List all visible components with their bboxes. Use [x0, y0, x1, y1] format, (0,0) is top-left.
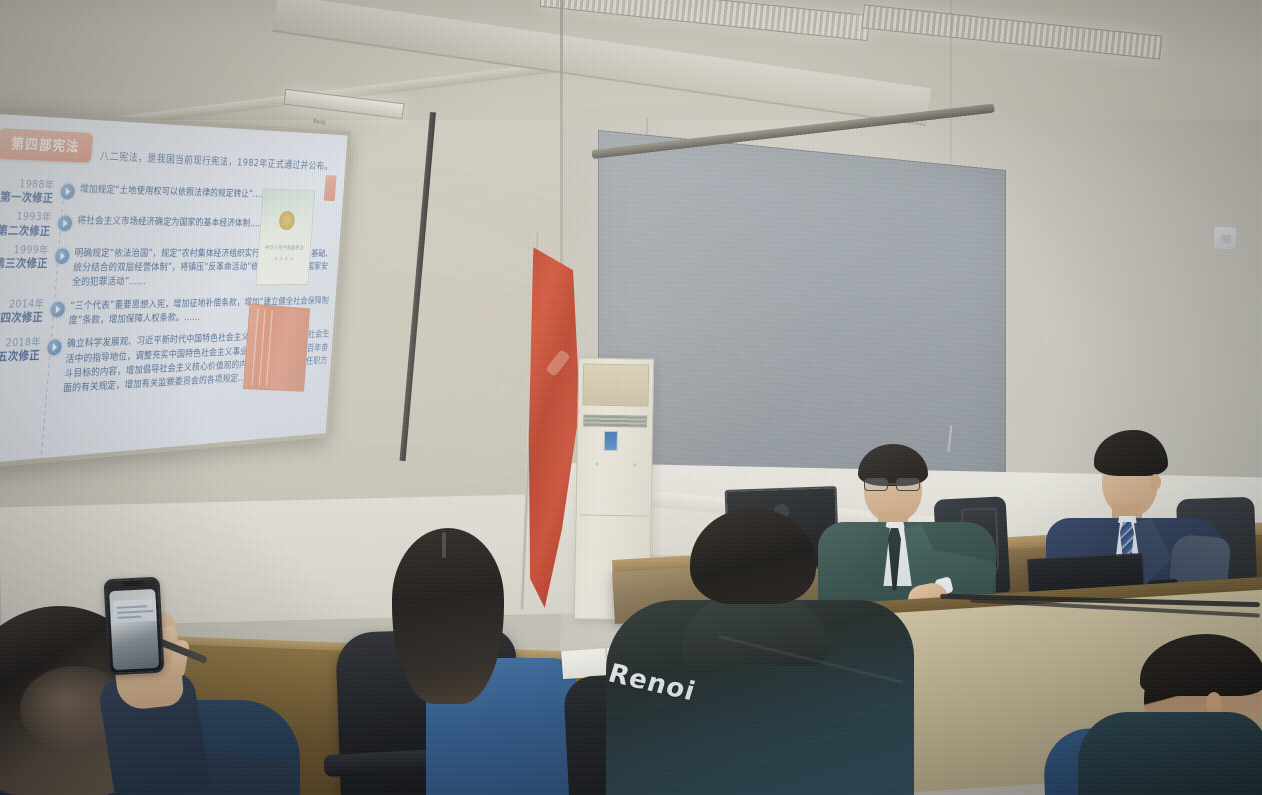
ac-vent: [583, 414, 647, 427]
ac-top-panel: [582, 363, 649, 406]
attendee-long-hair: [336, 528, 576, 795]
phone-screen[interactable]: [109, 589, 159, 670]
projection-screen[interactable]: 第四部宪法 八二宪法，是我国当前现行宪法，1982年正式通过并公布。 1988年…: [0, 108, 351, 471]
constitution-book-image: 中华人民共和国宪法 宪 法 读 本: [255, 188, 315, 285]
hair: [1140, 634, 1262, 696]
play-bullet-icon: [57, 216, 72, 232]
slide-lead-text: 八二宪法，是我国当前现行宪法，1982年正式通过并公布。: [99, 149, 340, 174]
hair: [690, 508, 816, 604]
ear: [1150, 474, 1161, 490]
timeline-label: 第五次修正: [0, 348, 40, 365]
timeline-year: 1999年: [0, 244, 49, 256]
timeline-label: 第一次修正: [0, 189, 54, 205]
ear: [1206, 692, 1222, 714]
phone-slide-preview: [113, 599, 160, 623]
play-bullet-icon: [55, 248, 70, 264]
projection-surface: 第四部宪法 八二宪法，是我国当前现行宪法，1982年正式通过并公布。 1988年…: [0, 113, 348, 466]
hair: [392, 528, 504, 704]
hair-part: [442, 532, 446, 558]
national-emblem-icon: [278, 211, 295, 230]
hair: [1094, 430, 1168, 476]
ac-display-icon: [604, 431, 618, 451]
timeline-label: 第四次修正: [0, 310, 44, 326]
attendee-jacket: [596, 508, 916, 795]
meeting-room-photo: 第四部宪法 八二宪法，是我国当前现行宪法，1982年正式通过并公布。 1988年…: [0, 0, 1262, 795]
phone-notch-icon: [122, 580, 144, 586]
timeline-year: 1993年: [0, 211, 52, 224]
attendee-bottom-right: [1078, 712, 1262, 795]
smartphone-camera[interactable]: [104, 577, 165, 676]
play-bullet-icon: [47, 340, 62, 356]
wall-socket-icon[interactable]: [1213, 226, 1238, 251]
jacket-collar: [682, 596, 828, 666]
play-bullet-icon: [50, 301, 65, 317]
book-cover-subtitle: 宪 法 读 本: [258, 256, 309, 261]
torso: [1078, 712, 1262, 795]
slide-title-badge: 第四部宪法: [0, 128, 93, 163]
timeline-label: 第二次修正: [0, 223, 51, 238]
slide-content: 第四部宪法 八二宪法，是我国当前现行宪法，1982年正式通过并公布。 1988年…: [0, 113, 348, 466]
eyeglasses-icon: [862, 478, 924, 491]
book-cover-title: 中华人民共和国宪法: [259, 244, 310, 251]
play-bullet-icon: [60, 184, 75, 200]
timeline-label: 第三次修正: [0, 256, 48, 270]
screen-side-tab: [324, 175, 337, 201]
red-volumes-image: [243, 304, 310, 392]
